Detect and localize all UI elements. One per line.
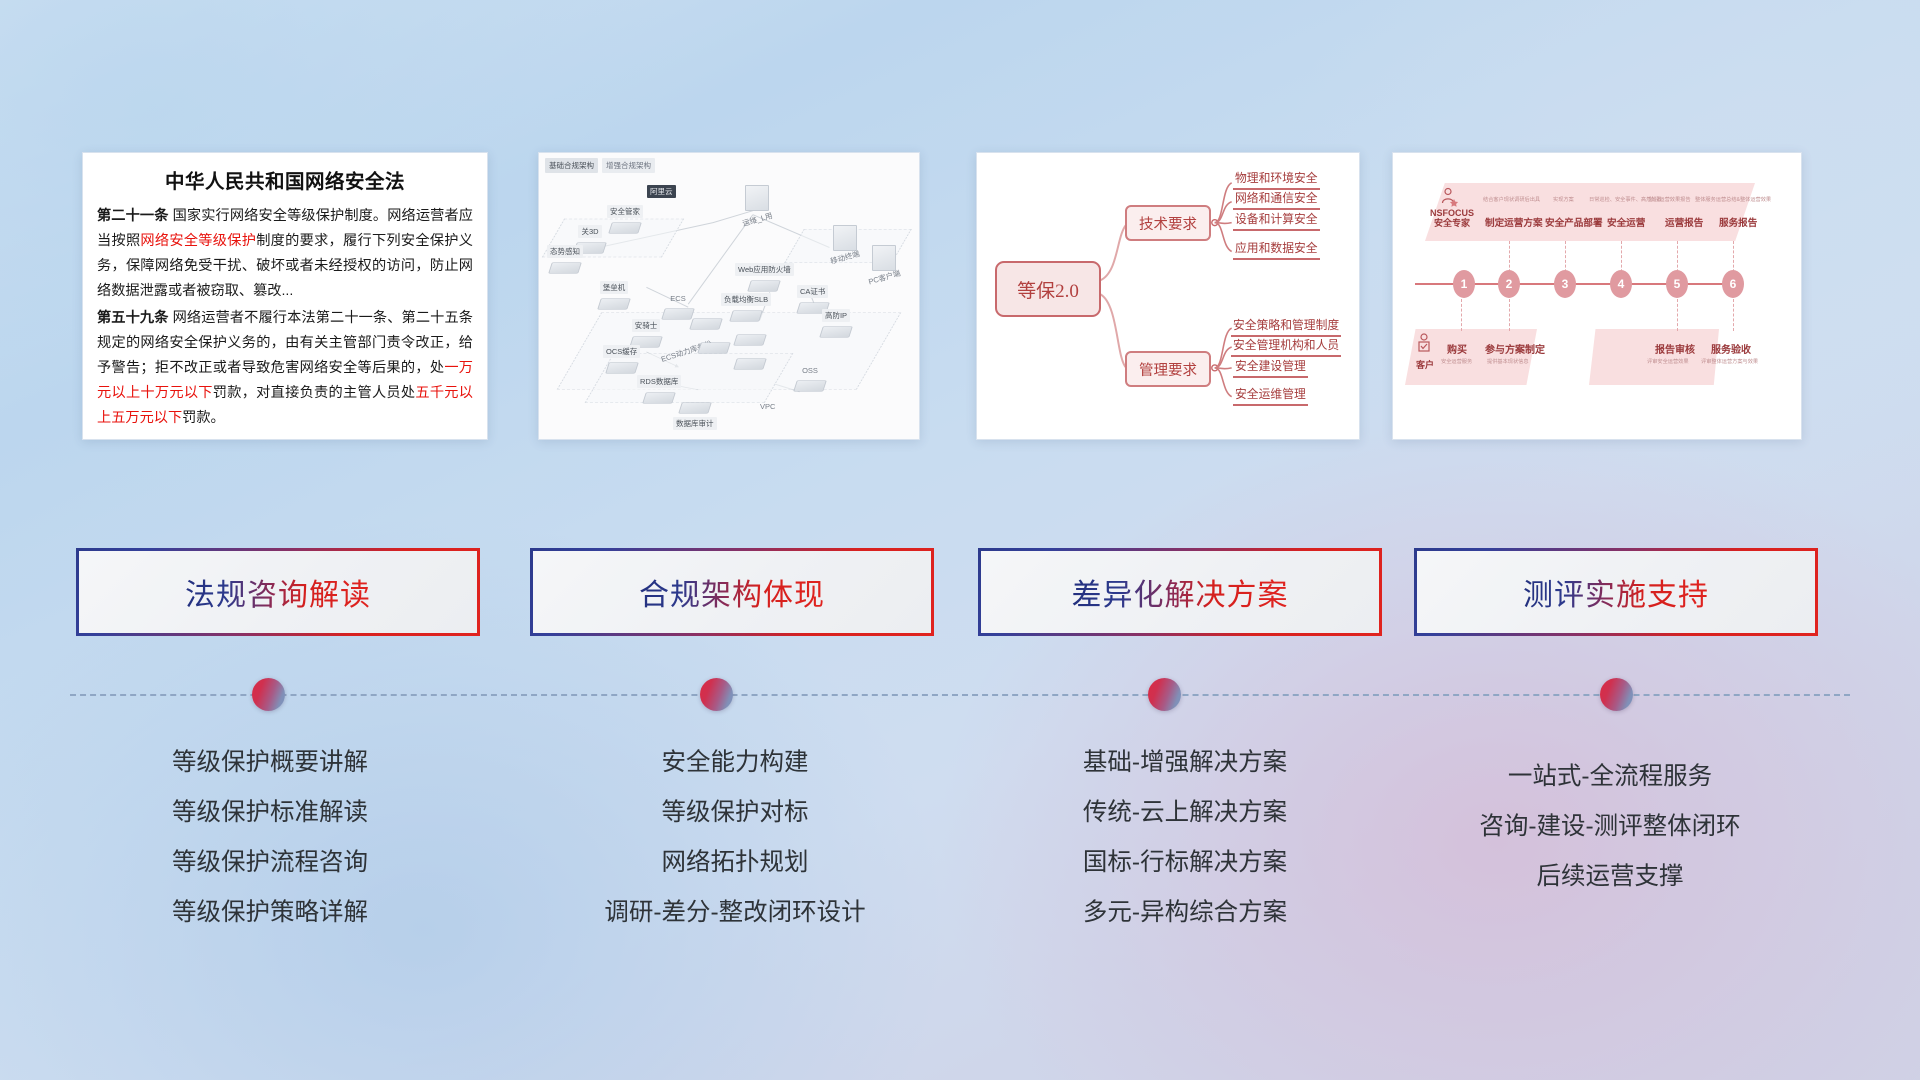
bottom-step-review-sub: 评审安全运营效果 (1647, 358, 1689, 365)
feature-list-4: 一站式-全流程服务 咨询-建设-测评整体闭环 后续运营支撑 (1375, 752, 1845, 902)
list-item: 等级保护流程咨询 (35, 838, 505, 888)
feature-list-1: 等级保护概要讲解 等级保护标准解读 等级保护流程咨询 等级保护策略详解 (35, 738, 505, 938)
card-nsfocus-timeline: NSFOCUS 安全专家 客户 结合客户现状调研后出具 实现方案 日常巡检、安全… (1392, 152, 1802, 440)
mindmap-leaf-ops: 安全运维管理 (1233, 385, 1308, 406)
node-ecs: ECS (663, 293, 693, 323)
node-pc-client: PC客户端 (865, 245, 904, 285)
feature-list-2: 安全能力构建 等级保护对标 网络拓扑规划 调研-差分-整改闭环设计 (500, 738, 970, 938)
step-5-sub: 阶段运营效果报告 (1649, 196, 1691, 203)
law-body: 中华人民共和国网络安全法 第二十一条 国家实行网络安全等级保护制度。网络运营者应… (83, 153, 487, 439)
node-situation-awareness: 态势感知 (547, 245, 583, 277)
mindmap-leaf-application: 应用和数据安全 (1233, 239, 1320, 260)
timeline-step-2: 2 (1498, 270, 1520, 298)
bottom-step-review: 报告审核 (1655, 341, 1695, 356)
expert-person-icon (1439, 187, 1459, 207)
bottom-step-participate-sub: 提供基本现状信息 (1487, 358, 1529, 365)
list-item: 安全能力构建 (500, 738, 970, 788)
section-title-box-1[interactable]: 法规咨询解读 (76, 548, 480, 636)
bottom-step-purchase-sub: 安全运营服务 (1441, 358, 1472, 365)
timeline-step-1: 1 (1453, 270, 1475, 298)
list-item: 多元-异构综合方案 (950, 888, 1420, 938)
mindmap-leaf-org: 安全管理机构和人员 (1231, 336, 1341, 357)
mindmap-leaf-construction: 安全建设管理 (1233, 357, 1308, 378)
law-article-number: 第二十一条 (97, 208, 169, 224)
list-item: 基础-增强解决方案 (950, 738, 1420, 788)
feature-list-3: 基础-增强解决方案 传统-云上解决方案 国标-行标解决方案 多元-异构综合方案 (950, 738, 1420, 938)
timeline-marker-2[interactable] (700, 678, 733, 711)
customer-person-icon (1415, 333, 1433, 355)
mindmap-branch-technical: 技术要求 (1125, 205, 1211, 241)
slide-canvas: 中华人民共和国网络安全法 第二十一条 国家实行网络安全等级保护制度。网络运营者应… (0, 0, 1920, 1080)
timeline-step-4: 4 (1610, 270, 1632, 298)
step-6-title: 服务报告 (1719, 215, 1757, 229)
list-item: 国标-行标解决方案 (950, 838, 1420, 888)
mindmap-leaf-device: 设备和计算安全 (1233, 210, 1320, 231)
mindmap-canvas: 等保2.0 技术要求 管理要求 物理和环境安全 网络和通信安全 设备和计算安全 … (977, 153, 1359, 439)
nsfocus-canvas: NSFOCUS 安全专家 客户 结合客户现状调研后出具 实现方案 日常巡检、安全… (1393, 153, 1801, 439)
section-title-inner-1: 法规咨询解读 (79, 551, 477, 633)
step-2-sub: 结合客户现状调研后出具 (1483, 196, 1540, 203)
node-aliyun: 阿里云 (647, 185, 676, 199)
node-security-butler: 安全管家 (607, 205, 643, 237)
node-ops-terminal: 运维_L用 (739, 185, 776, 227)
node-mobile-terminal: 移动终端 (827, 225, 863, 265)
step-2-title: 制定运营方案 (1485, 215, 1543, 229)
bottom-step-acceptance: 服务验收 (1711, 341, 1751, 356)
step-4-title: 安全运营 (1607, 215, 1645, 229)
mindmap-root: 等保2.0 (995, 261, 1101, 317)
list-item: 等级保护策略详解 (35, 888, 505, 938)
node-anti-ddos-ip: 高防IP (821, 309, 851, 341)
mindmap-leaf-physical: 物理和环境安全 (1233, 169, 1320, 190)
list-item: 一站式-全流程服务 (1375, 752, 1845, 802)
node-waf: Web应用防火墙 (735, 263, 794, 295)
architecture-canvas: 基础合规架构 增强合规架构 (539, 153, 919, 439)
nsfocus-customer-band-right (1589, 329, 1719, 385)
timeline-marker-1[interactable] (252, 678, 285, 711)
bottom-step-purchase: 购买 (1447, 341, 1467, 356)
list-item: 等级保护概要讲解 (35, 738, 505, 788)
timeline-step-5: 5 (1666, 270, 1688, 298)
node-db-audit: 数据库审计 (673, 399, 717, 431)
list-item: 网络拓扑规划 (500, 838, 970, 888)
list-item: 后续运营支撑 (1375, 852, 1845, 902)
section-title-inner-2: 合规架构体现 (533, 551, 931, 633)
law-paragraph-59: 第五十九条 网络运营者不履行本法第二十一条、第二十五条规定的网络安全保护义务的，… (97, 306, 473, 431)
card-mindmap: 等保2.0 技术要求 管理要求 物理和环境安全 网络和通信安全 设备和计算安全 … (976, 152, 1360, 440)
section-title-text-4: 测评实施支持 (1523, 570, 1709, 614)
timeline-marker-4[interactable] (1600, 678, 1633, 711)
step-6-sub: 整体服务运营总结&整体运营效果 (1695, 196, 1771, 203)
section-title-text-1: 法规咨询解读 (185, 570, 371, 614)
section-title-box-2[interactable]: 合规架构体现 (530, 548, 934, 636)
law-title: 中华人民共和国网络安全法 (97, 165, 473, 194)
bottom-step-acceptance-sub: 评审整体运营方案与效果 (1701, 358, 1758, 365)
mindmap-leaf-policy: 安全策略和管理制度 (1231, 316, 1341, 337)
timeline-step-6: 6 (1722, 270, 1744, 298)
card-architecture-diagram: 基础合规架构 增强合规架构 (538, 152, 920, 440)
section-title-inner-3: 差异化解决方案 (981, 551, 1379, 633)
node-oss: OSS (795, 365, 825, 395)
list-item: 等级保护对标 (500, 788, 970, 838)
customer-label: 客户 (1413, 358, 1437, 371)
list-item: 等级保护标准解读 (35, 788, 505, 838)
step-3-title: 安全产品部署 (1545, 215, 1603, 229)
step-5-title: 运营报告 (1665, 215, 1703, 229)
node-slb: 负载均衡SLB (721, 293, 771, 325)
law-highlight-text: 网络安全等级保护 (140, 233, 256, 249)
section-title-box-4[interactable]: 测评实施支持 (1414, 548, 1818, 636)
card-law-text: 中华人民共和国网络安全法 第二十一条 国家实行网络安全等级保护制度。网络运营者应… (82, 152, 488, 440)
law-body-text: 罚款。 (182, 410, 225, 426)
expert-label: NSFOCUS 安全专家 (1427, 208, 1477, 228)
node-vpc: VPC (757, 401, 778, 413)
law-paragraph-21: 第二十一条 国家实行网络安全等级保护制度。网络运营者应当按照网络安全等级保护制度… (97, 204, 473, 304)
section-title-text-3: 差异化解决方案 (1072, 570, 1289, 614)
timeline-dashed-line (70, 694, 1850, 696)
section-title-box-3[interactable]: 差异化解决方案 (978, 548, 1382, 636)
node-bastion-host: 堡垒机 (599, 281, 629, 313)
timeline-step-3: 3 (1554, 270, 1576, 298)
mindmap-branch-management: 管理要求 (1125, 351, 1211, 387)
timeline-marker-3[interactable] (1148, 678, 1181, 711)
section-title-inner-4: 测评实施支持 (1417, 551, 1815, 633)
step-3-sub: 实现方案 (1553, 196, 1574, 203)
mindmap-leaf-network: 网络和通信安全 (1233, 189, 1320, 210)
bottom-step-participate: 参与方案制定 (1485, 341, 1545, 356)
node-ocs-cache: OCS缓存 (603, 345, 640, 377)
list-item: 调研-差分-整改闭环设计 (500, 888, 970, 938)
law-article-number: 第五十九条 (97, 310, 169, 326)
section-title-text-2: 合规架构体现 (639, 570, 825, 614)
list-item: 咨询-建设-测评整体闭环 (1375, 802, 1845, 852)
list-item: 传统-云上解决方案 (950, 788, 1420, 838)
law-body-text: 罚款，对直接负责的主管人员处 (213, 385, 416, 401)
